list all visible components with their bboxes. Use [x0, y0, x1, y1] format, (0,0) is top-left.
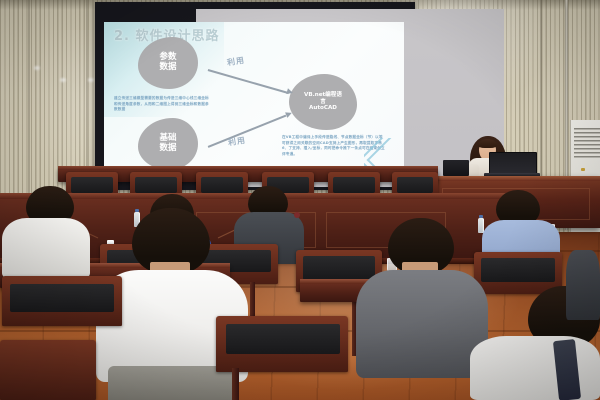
wall-scuff	[88, 78, 94, 82]
podium-monitor	[443, 160, 469, 176]
water-bottle-cap	[479, 215, 483, 218]
chair-foreground-bottom-left	[0, 340, 96, 400]
water-bottle-cap	[135, 209, 139, 212]
chair-back-2-pad	[135, 177, 177, 193]
conference-room-photo: 2. 软件设计思路 参数 数据 基础 数据 VB.net编程语 言 AutoCA…	[0, 0, 600, 400]
air-conditioner-indicator-icon	[581, 168, 585, 171]
slide-node-parameter-data-label: 参数 数据	[159, 53, 176, 73]
presenter-fringe	[478, 139, 497, 148]
slide-node-base-data-label: 基础 数据	[159, 134, 176, 154]
chair-leg	[232, 368, 239, 400]
podium-desk-edge	[432, 176, 600, 181]
chair-row3-3-pad	[303, 256, 375, 280]
chair-foreground-center-pad	[226, 324, 340, 354]
slide-node-tool: VB.net编程语 言 AutoCAD	[289, 74, 357, 130]
audience-torso	[2, 218, 90, 278]
wall-scuff	[60, 78, 66, 82]
slide-arrow-lower	[208, 115, 286, 148]
chair-back-3-pad	[201, 177, 243, 193]
slide-body-text-upper: 建立传送三维模型需要的数据为传送三维中心线三维坐标和传送角度参数，从而和二维图上…	[114, 96, 212, 113]
slide-node-parameter-data: 参数 数据	[138, 37, 198, 89]
chair-row3-4-pad	[481, 258, 555, 282]
slide-arrow-lower-label: 利用	[227, 135, 246, 149]
slide-arrow-upper-label: 利用	[226, 55, 245, 69]
chair-back-1-pad	[71, 177, 113, 193]
audience-torso	[356, 270, 488, 378]
audience-torso	[566, 250, 600, 320]
audience-shirt-logo-icon	[294, 212, 300, 218]
chair-foreground-left-pad	[10, 284, 114, 312]
chair-back-6-pad	[397, 177, 433, 193]
chair-back-5-pad	[333, 177, 375, 193]
desk-row-back-top	[58, 166, 438, 170]
wall-scuff	[34, 66, 40, 70]
audience-torso	[470, 336, 600, 400]
projected-slide: 2. 软件设计思路 参数 数据 基础 数据 VB.net编程语 言 AutoCA…	[104, 22, 404, 180]
slide-node-tool-label: VB.net编程语 言 AutoCAD	[304, 92, 342, 111]
slide-node-base-data: 基础 数据	[138, 118, 198, 170]
air-conditioner-vents	[574, 128, 600, 158]
